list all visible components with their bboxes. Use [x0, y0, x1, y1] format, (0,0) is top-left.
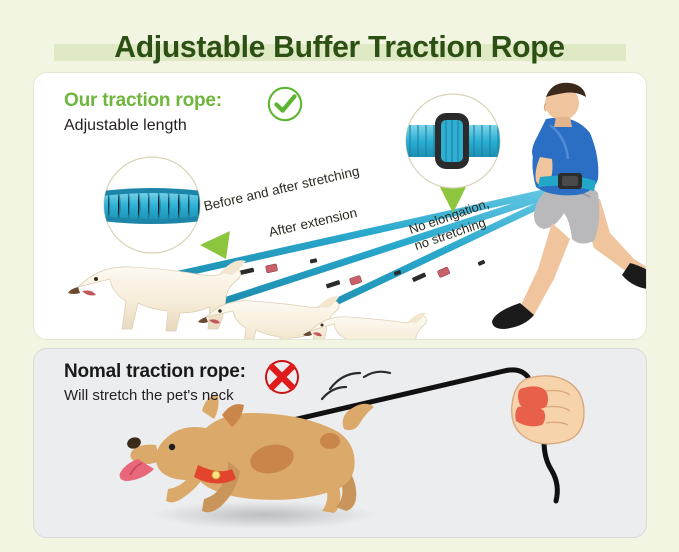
panel-our-traction-rope: Our traction rope: Adjustable length Bef…: [33, 72, 647, 340]
motion-lines: [322, 372, 390, 399]
good-panel-subheading: Adjustable length: [64, 117, 187, 135]
panel-normal-traction-rope: Nomal traction rope: Will stretch the pe…: [33, 348, 647, 538]
good-panel-heading: Our traction rope:: [64, 90, 222, 112]
page-title: Adjustable Buffer Traction Rope: [10, 29, 669, 65]
cross-circle-icon: [262, 357, 302, 397]
infographic-page: Adjustable Buffer Traction Rope: [0, 0, 679, 552]
check-circle-icon: [266, 85, 304, 123]
our-rope-illustration: [34, 73, 646, 339]
page-title-area: Adjustable Buffer Traction Rope: [0, 14, 679, 60]
bad-panel-heading: Nomal traction rope:: [64, 361, 246, 383]
bad-panel-subheading: Will stretch the pet's neck: [64, 387, 234, 404]
gripping-hand: [512, 376, 584, 444]
callout-buckle: [404, 94, 504, 213]
cartoon-dog: [120, 395, 374, 513]
